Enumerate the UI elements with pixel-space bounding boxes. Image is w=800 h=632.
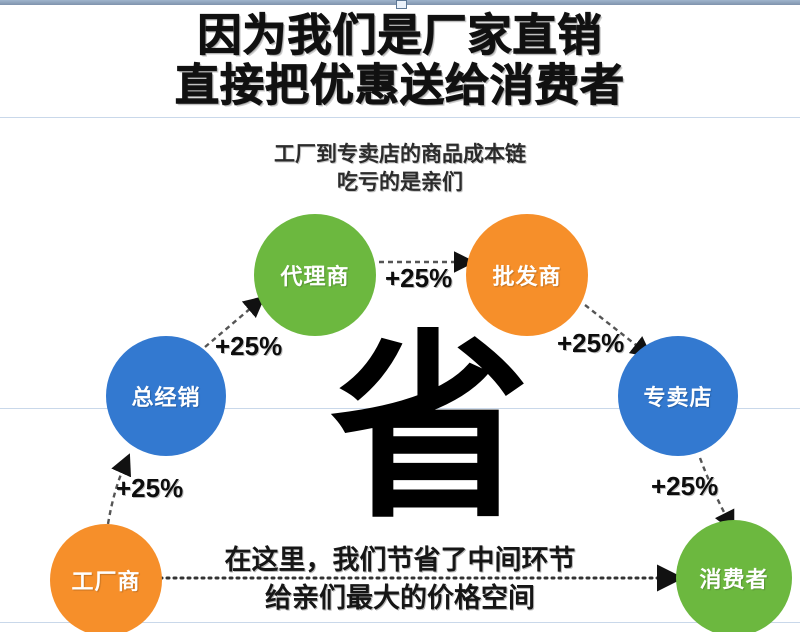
node-wholesale-label: 批发商: [492, 259, 561, 291]
edge-label-general-to-agent: +25%: [215, 331, 282, 362]
node-general-label: 总经销: [131, 380, 200, 412]
slide-canvas: 因为我们是厂家直销 直接把优惠送给消费者 工厂到专卖店的商品成本链 吃亏的是亲们…: [0, 0, 800, 632]
node-general-distributor[interactable]: 总经销: [106, 336, 226, 456]
node-exclusive-store[interactable]: 专卖店: [618, 336, 738, 456]
node-agent[interactable]: 代理商: [254, 214, 376, 336]
tagline-line-2: 给亲们最大的价格空间: [0, 581, 800, 615]
node-wholesaler[interactable]: 批发商: [466, 214, 588, 336]
edge-label-store-to-consumer: +25%: [651, 471, 718, 502]
edge-label-factory-to-general: +25%: [116, 473, 183, 504]
savings-character: 省: [330, 332, 510, 532]
edge-label-agent-to-wholesale: +25%: [385, 263, 452, 294]
edge-label-wholesale-to-store: +25%: [557, 328, 624, 359]
tagline-line-1: 在这里，我们节省了中间环节: [0, 543, 800, 577]
node-agent-label: 代理商: [280, 259, 349, 291]
node-factory[interactable]: 工厂商: [50, 524, 162, 632]
node-store-label: 专卖店: [643, 380, 712, 412]
